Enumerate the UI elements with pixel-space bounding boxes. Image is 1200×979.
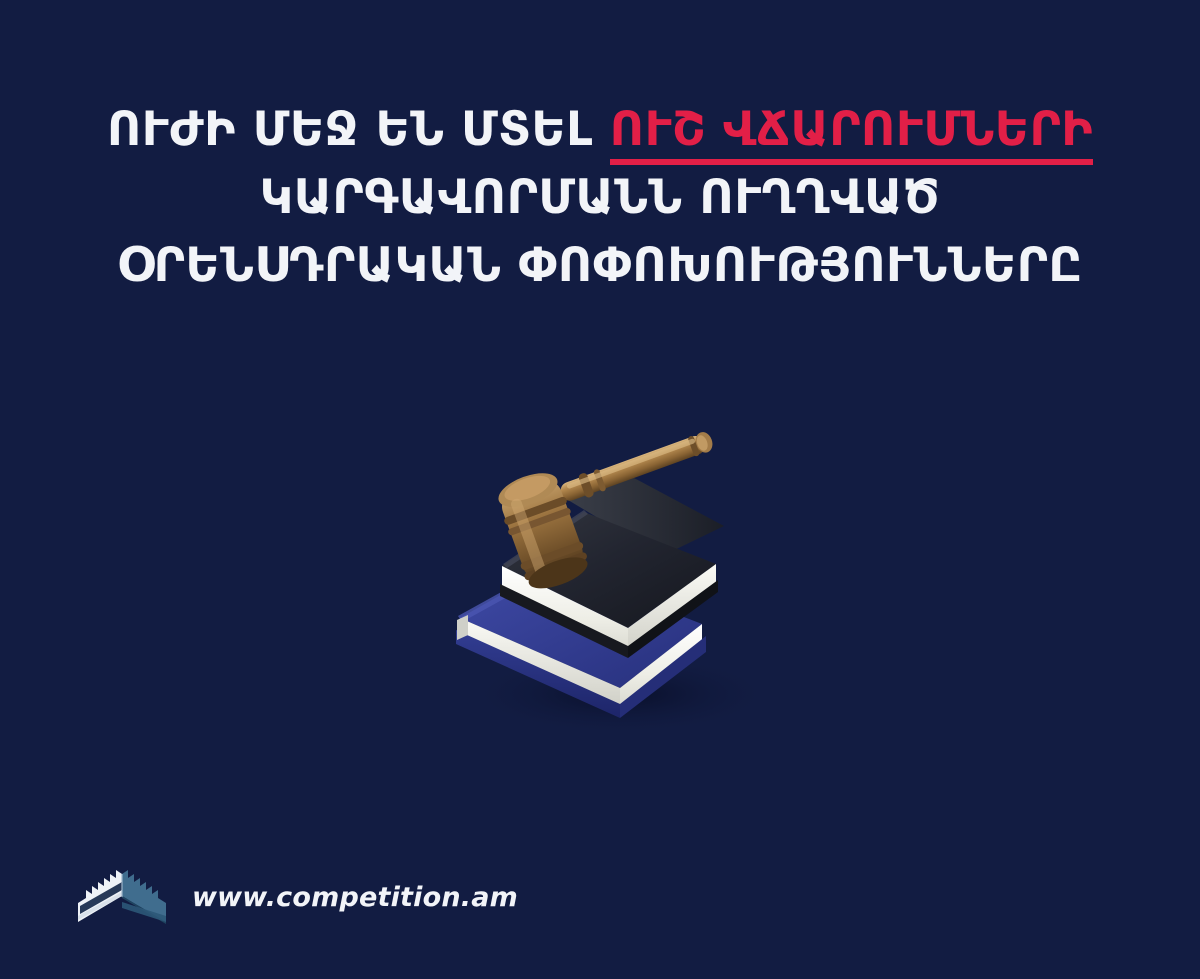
footer-brand: www.competition.am (78, 866, 518, 928)
gavel-on-law-books-illustration (424, 432, 808, 744)
competition-commission-castle-logo-icon[interactable] (78, 866, 166, 928)
headline-line-2: ԿԱՐԳԱՎՈՐՄԱՆՆ ՈՒՂՂՎԱԾ (0, 164, 1200, 232)
headline-line-3: ՕՐԵՆՍԴՐԱԿԱՆ ՓՈՓՈԽՈՒԹՅՈՒՆՆԵՐԸ (0, 232, 1200, 300)
poster-canvas: ՈՒԺԻ ՄԵՋ ԵՆ ՄՏԵԼ ՈՒՇ ՎՃԱՐՈՒՄՆԵՐԻ ԿԱՐԳԱՎՈ… (0, 0, 1200, 979)
page-title: ՈՒԺԻ ՄԵՋ ԵՆ ՄՏԵԼ ՈՒՇ ՎՃԱՐՈՒՄՆԵՐԻ ԿԱՐԳԱՎՈ… (0, 96, 1200, 300)
website-url[interactable]: www.competition.am (192, 882, 518, 913)
headline-accent-phrase: ՈՒՇ ՎՃԱՐՈՒՄՆԵՐԻ (610, 102, 1093, 165)
headline-line-1-plain: ՈՒԺԻ ՄԵՋ ԵՆ ՄՏԵԼ (107, 102, 610, 157)
headline-line-1: ՈՒԺԻ ՄԵՋ ԵՆ ՄՏԵԼ ՈՒՇ ՎՃԱՐՈՒՄՆԵՐԻ (0, 96, 1200, 164)
